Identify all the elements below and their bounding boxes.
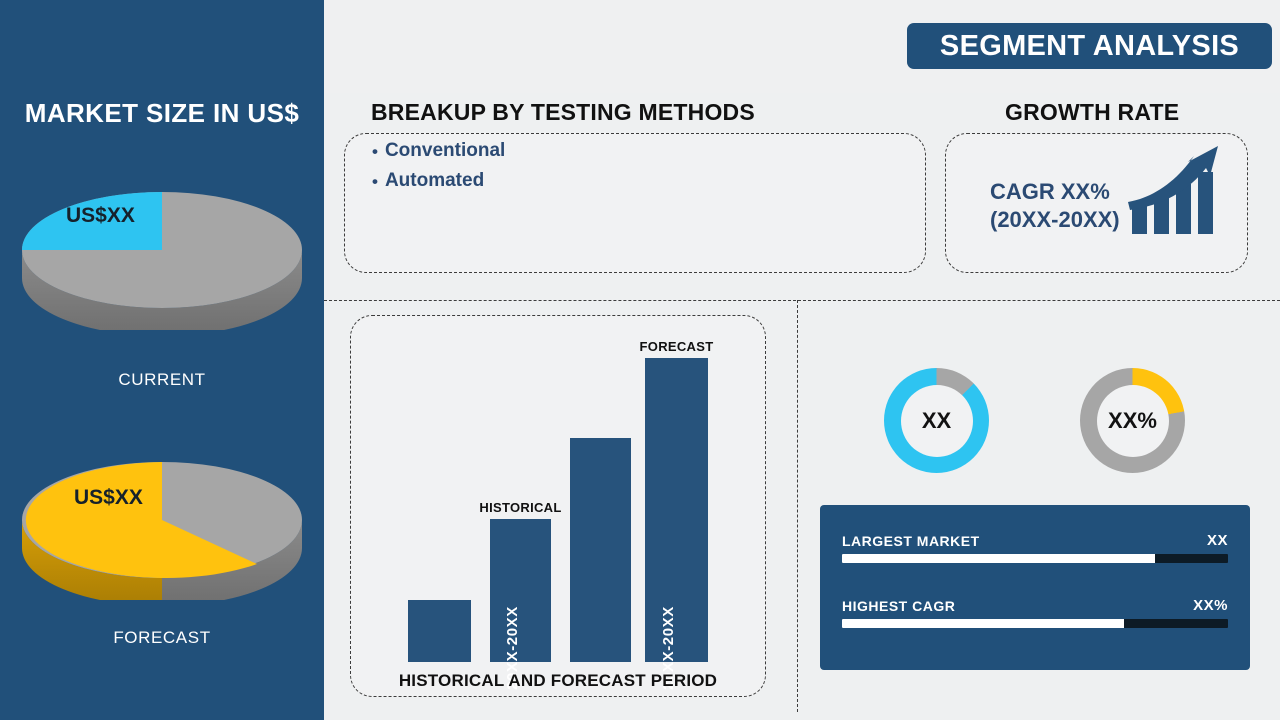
stats-card: LARGEST MARKET XX HIGHEST CAGR XX% xyxy=(820,505,1250,670)
donut-1-value: XX xyxy=(922,408,951,434)
pie-current-value: US$XX xyxy=(66,204,135,228)
list-item: • Automated xyxy=(372,170,505,192)
pie-current-svg xyxy=(17,170,307,330)
list-item-label: Conventional xyxy=(385,140,505,162)
bar-1 xyxy=(408,600,471,662)
stat-header: LARGEST MARKET XX xyxy=(842,532,1228,549)
cagr-text: CAGR XX% (20XX-20XX) xyxy=(990,178,1120,234)
donut-1-center: XX xyxy=(901,385,973,457)
list-item-label: Automated xyxy=(385,170,484,192)
barchart: 20XX-20XX HISTORICAL 20XX-20XX FORECAST … xyxy=(350,315,766,697)
stat-progress-fill xyxy=(842,619,1124,628)
page-title: SEGMENT ANALYSIS xyxy=(940,30,1239,63)
bar-3 xyxy=(570,438,631,662)
vertical-divider xyxy=(797,300,798,712)
breakup-list: • Conventional • Automated xyxy=(372,140,505,200)
bar-2: 20XX-20XX HISTORICAL xyxy=(490,519,551,662)
donut-chart-1: XX xyxy=(884,368,989,473)
pie-forecast-label: FORECAST xyxy=(0,628,324,648)
stat-name: HIGHEST CAGR xyxy=(842,598,955,614)
barchart-axis-label: HISTORICAL AND FORECAST PERIOD xyxy=(350,671,766,691)
stat-header: HIGHEST CAGR XX% xyxy=(842,597,1228,614)
list-item: • Conventional xyxy=(372,140,505,162)
header-band: SEGMENT ANALYSIS imarc IMPACTFUL INSIGHT… xyxy=(324,0,1280,93)
pie-forecast-svg xyxy=(17,440,307,600)
sidebar-title: MARKET SIZE IN US$ xyxy=(0,98,324,129)
bullet-dot-icon: • xyxy=(372,143,378,160)
stat-value: XX xyxy=(1207,532,1228,549)
infographic-page: MARKET SIZE IN US$ US$XX CURRENT xyxy=(0,0,1280,720)
stat-progress-track xyxy=(842,619,1228,628)
cagr-line2: (20XX-20XX) xyxy=(990,206,1120,234)
breakup-heading: BREAKUP BY TESTING METHODS xyxy=(371,99,755,126)
stat-value: XX% xyxy=(1193,597,1228,614)
market-size-sidebar: MARKET SIZE IN US$ US$XX CURRENT xyxy=(0,0,324,720)
stat-progress-track xyxy=(842,554,1228,563)
donut-2-value: XX% xyxy=(1108,408,1157,434)
growth-chart-arrow-icon xyxy=(1126,140,1226,240)
donut-2-center: XX% xyxy=(1097,385,1169,457)
horizontal-divider xyxy=(324,300,1280,301)
bar-4: 20XX-20XX FORECAST xyxy=(645,358,708,662)
cagr-line1: CAGR XX% xyxy=(990,178,1120,206)
pie-current-label: CURRENT xyxy=(0,370,324,390)
pie-forecast-value: US$XX xyxy=(74,486,143,510)
bullet-dot-icon: • xyxy=(372,173,378,190)
stat-name: LARGEST MARKET xyxy=(842,533,980,549)
donut-chart-2: XX% xyxy=(1080,368,1185,473)
page-title-pill: SEGMENT ANALYSIS xyxy=(907,23,1272,69)
bar-4-annotation: FORECAST xyxy=(640,339,714,354)
stat-progress-fill xyxy=(842,554,1155,563)
growth-heading: GROWTH RATE xyxy=(1005,99,1179,126)
stat-row-highest-cagr: HIGHEST CAGR XX% xyxy=(842,597,1228,628)
bar-2-annotation: HISTORICAL xyxy=(479,500,561,515)
stat-row-largest-market: LARGEST MARKET XX xyxy=(842,532,1228,563)
